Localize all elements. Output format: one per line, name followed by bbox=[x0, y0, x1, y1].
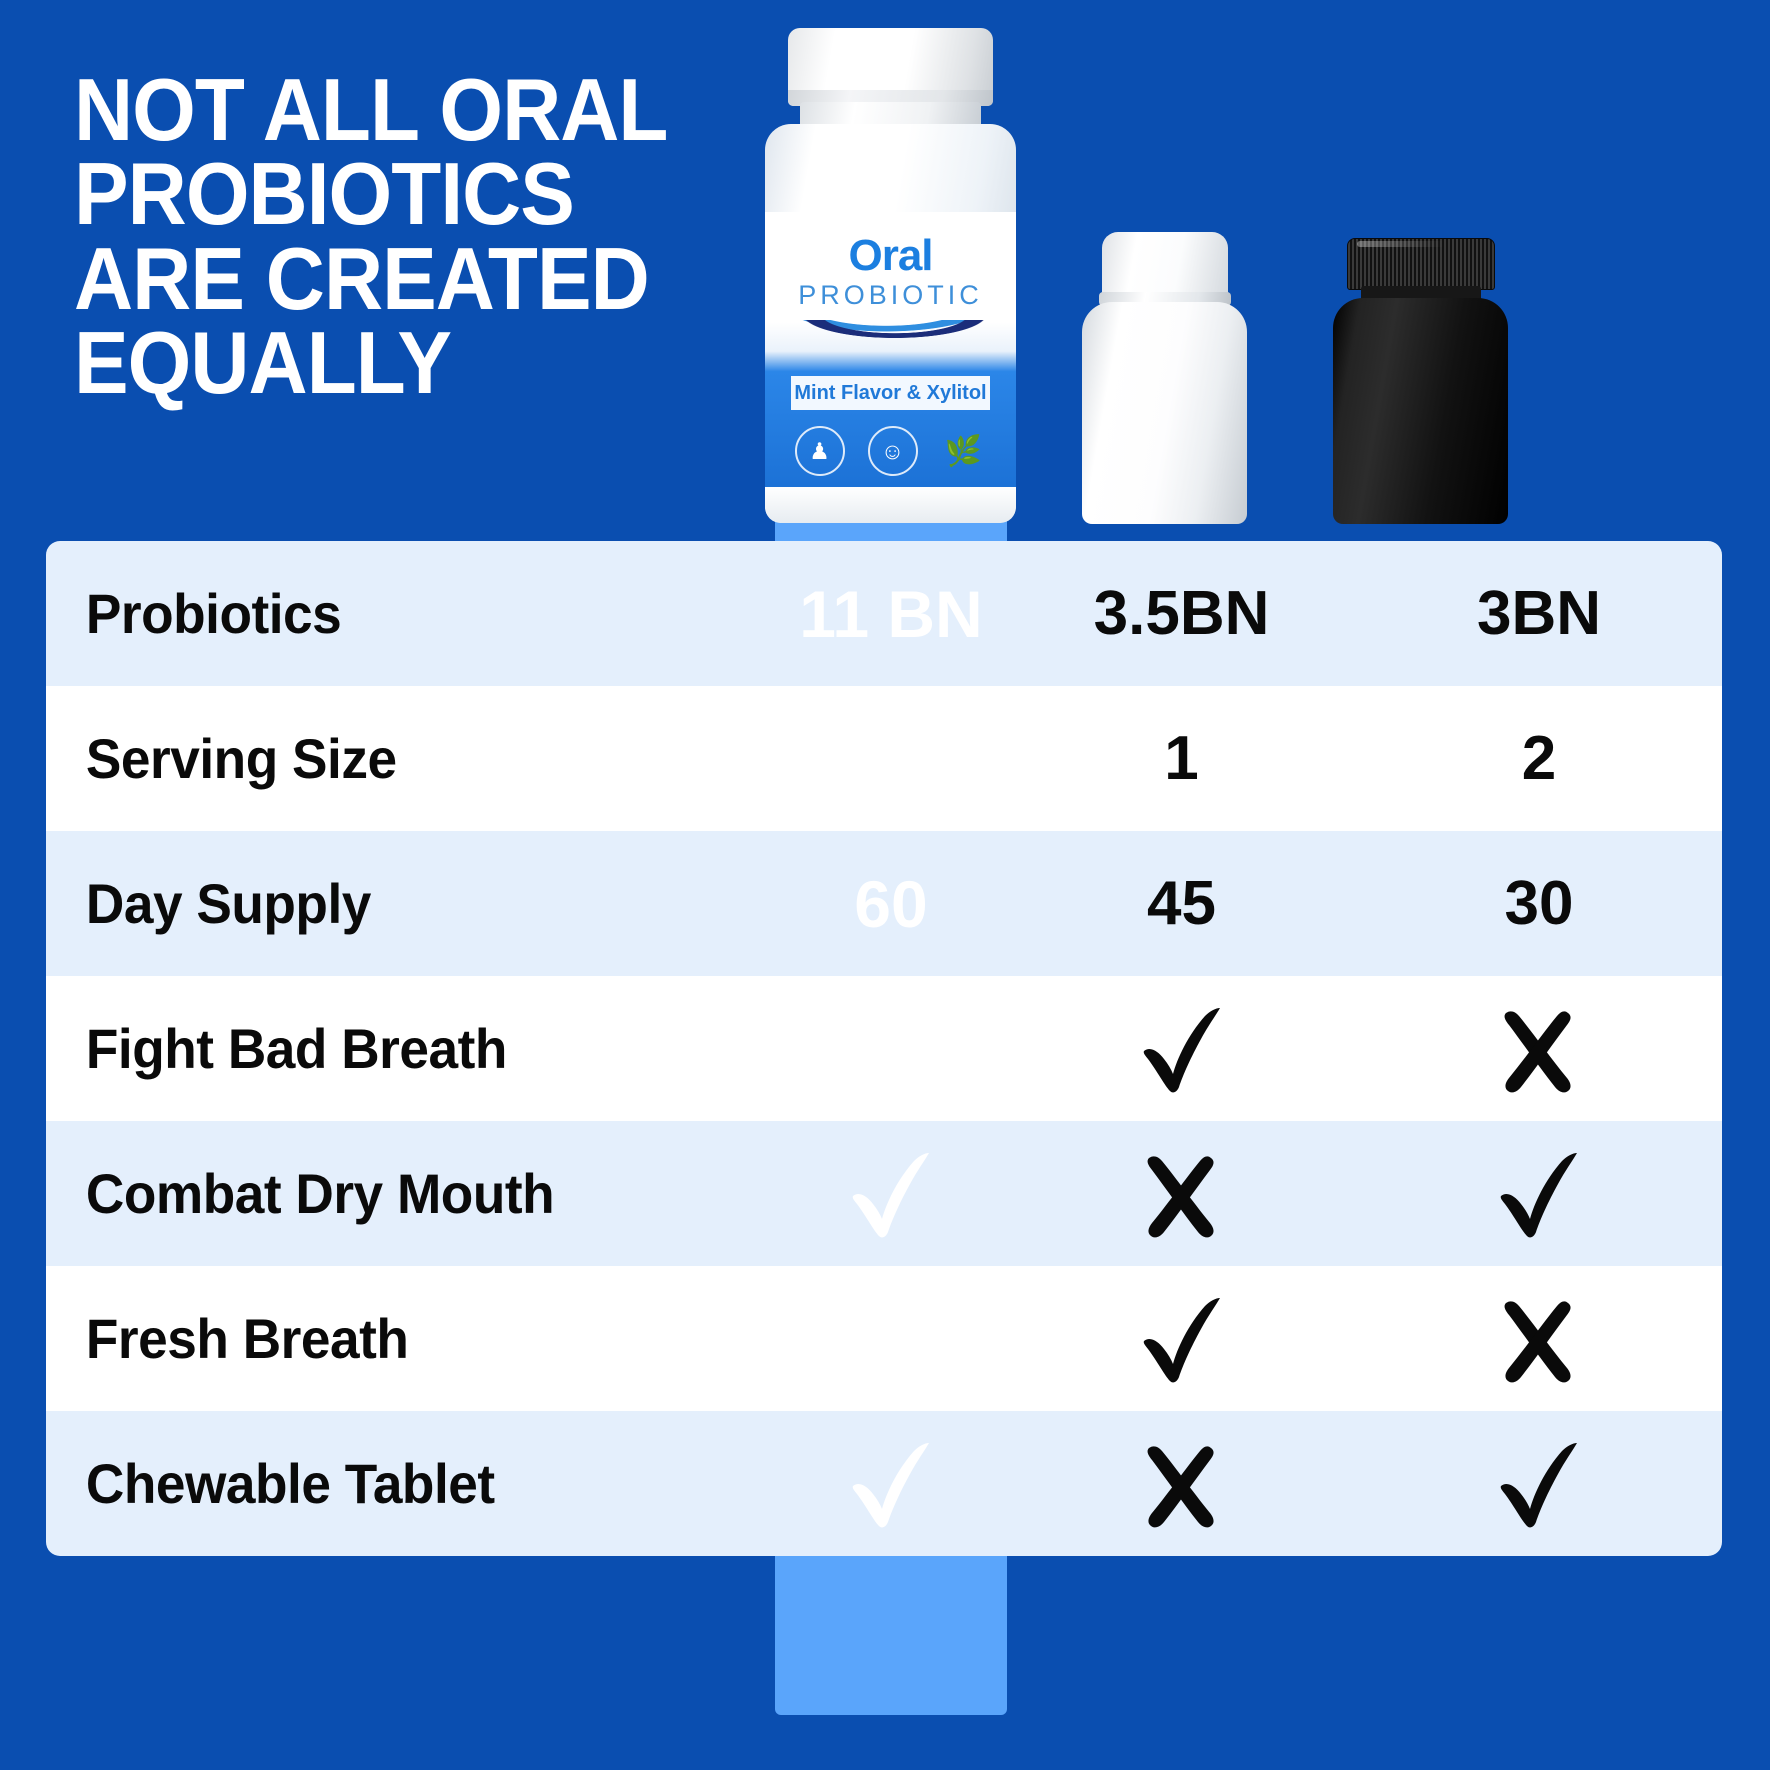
cell-competitor-1: 1 bbox=[1007, 723, 1356, 794]
check-icon bbox=[1489, 1434, 1589, 1534]
cell-competitor-1: 45 bbox=[1007, 868, 1356, 939]
cell-competitor-1 bbox=[1007, 999, 1356, 1099]
headline-line-2: PROBIOTICS bbox=[74, 152, 725, 236]
bottle-body: Oral PROBIOTIC Mint Flavor & Xylitol ♟ ☺… bbox=[765, 124, 1016, 523]
cell-competitor-2 bbox=[1356, 1144, 1722, 1244]
bottle-flavor-banner: Mint Flavor & Xylitol bbox=[791, 376, 990, 410]
black-bottle-body bbox=[1333, 298, 1508, 524]
row-label: Fresh Breath bbox=[46, 1306, 739, 1371]
table-row: Combat Dry Mouth bbox=[46, 1121, 1722, 1266]
competitor-black-bottle bbox=[1333, 238, 1508, 524]
table-row: Fresh Breath bbox=[46, 1266, 1722, 1411]
bottle-brand-name: Oral bbox=[765, 234, 1016, 278]
cell-our-product bbox=[775, 1289, 1007, 1389]
cell-competitor-1 bbox=[1007, 1144, 1356, 1244]
row-label: Day Supply bbox=[46, 871, 739, 936]
tooth-icon: ♟ bbox=[795, 426, 845, 476]
check-icon bbox=[841, 1434, 941, 1534]
headline-line-4: EQUALLY bbox=[74, 321, 725, 405]
check-icon bbox=[841, 1144, 941, 1244]
comparison-table: Probiotics11 BN3.5BN3BNServing Size112Da… bbox=[46, 541, 1722, 1556]
check-icon bbox=[1132, 999, 1232, 1099]
cross-icon bbox=[1132, 1434, 1232, 1534]
check-icon bbox=[1489, 1144, 1589, 1244]
cell-competitor-2: 3BN bbox=[1356, 578, 1722, 649]
fresh-breath-head-icon: ☺ bbox=[868, 426, 918, 476]
cell-competitor-2 bbox=[1356, 1289, 1722, 1389]
mint-leaf-icon: 🌿 bbox=[941, 428, 987, 474]
cross-icon bbox=[1489, 1289, 1589, 1389]
headline-line-1: NOT ALL ORAL bbox=[74, 68, 725, 152]
check-icon bbox=[1132, 1289, 1232, 1389]
row-label: Probiotics bbox=[46, 581, 739, 646]
row-label: Combat Dry Mouth bbox=[46, 1161, 739, 1226]
product-bottle-oral-probiotic: Oral PROBIOTIC Mint Flavor & Xylitol ♟ ☺… bbox=[748, 28, 1033, 523]
bottle-base bbox=[765, 487, 1016, 523]
cross-icon bbox=[1489, 999, 1589, 1099]
check-icon bbox=[841, 999, 941, 1099]
table-row: Day Supply604530 bbox=[46, 831, 1722, 976]
bottle-benefit-icons: ♟ ☺ 🌿 bbox=[783, 420, 998, 482]
cell-competitor-2: 30 bbox=[1356, 868, 1722, 939]
cell-competitor-2 bbox=[1356, 1434, 1722, 1534]
smile-swoosh-graphic bbox=[783, 320, 998, 372]
bottle-subtitle: PROBIOTIC bbox=[765, 282, 1016, 309]
cell-our-product: 11 BN bbox=[775, 576, 1007, 652]
cell-our-product: 1 bbox=[775, 721, 1007, 797]
headline-line-3: ARE CREATED bbox=[74, 237, 725, 321]
row-label: Fight Bad Breath bbox=[46, 1016, 739, 1081]
table-row: Fight Bad Breath bbox=[46, 976, 1722, 1121]
bottle-cap bbox=[788, 28, 993, 106]
row-label: Serving Size bbox=[46, 726, 739, 791]
cell-competitor-1: 3.5BN bbox=[1007, 578, 1356, 649]
cell-our-product: 60 bbox=[775, 866, 1007, 942]
cell-our-product bbox=[775, 1434, 1007, 1534]
cell-competitor-1 bbox=[1007, 1289, 1356, 1389]
cross-icon bbox=[1132, 1144, 1232, 1244]
cell-competitor-2: 2 bbox=[1356, 723, 1722, 794]
table-row: Probiotics11 BN3.5BN3BN bbox=[46, 541, 1722, 686]
white-bottle-body bbox=[1082, 302, 1247, 524]
cell-competitor-1 bbox=[1007, 1434, 1356, 1534]
cell-our-product bbox=[775, 1144, 1007, 1244]
row-label: Chewable Tablet bbox=[46, 1451, 739, 1516]
cell-competitor-2 bbox=[1356, 999, 1722, 1099]
competitor-white-bottle bbox=[1082, 232, 1247, 524]
cell-our-product bbox=[775, 999, 1007, 1099]
table-row: Chewable Tablet bbox=[46, 1411, 1722, 1556]
white-bottle-cap bbox=[1102, 232, 1228, 300]
black-bottle-cap bbox=[1347, 238, 1495, 290]
check-icon bbox=[841, 1289, 941, 1389]
page-headline: NOT ALL ORAL PROBIOTICS ARE CREATED EQUA… bbox=[74, 68, 725, 406]
table-row: Serving Size112 bbox=[46, 686, 1722, 831]
